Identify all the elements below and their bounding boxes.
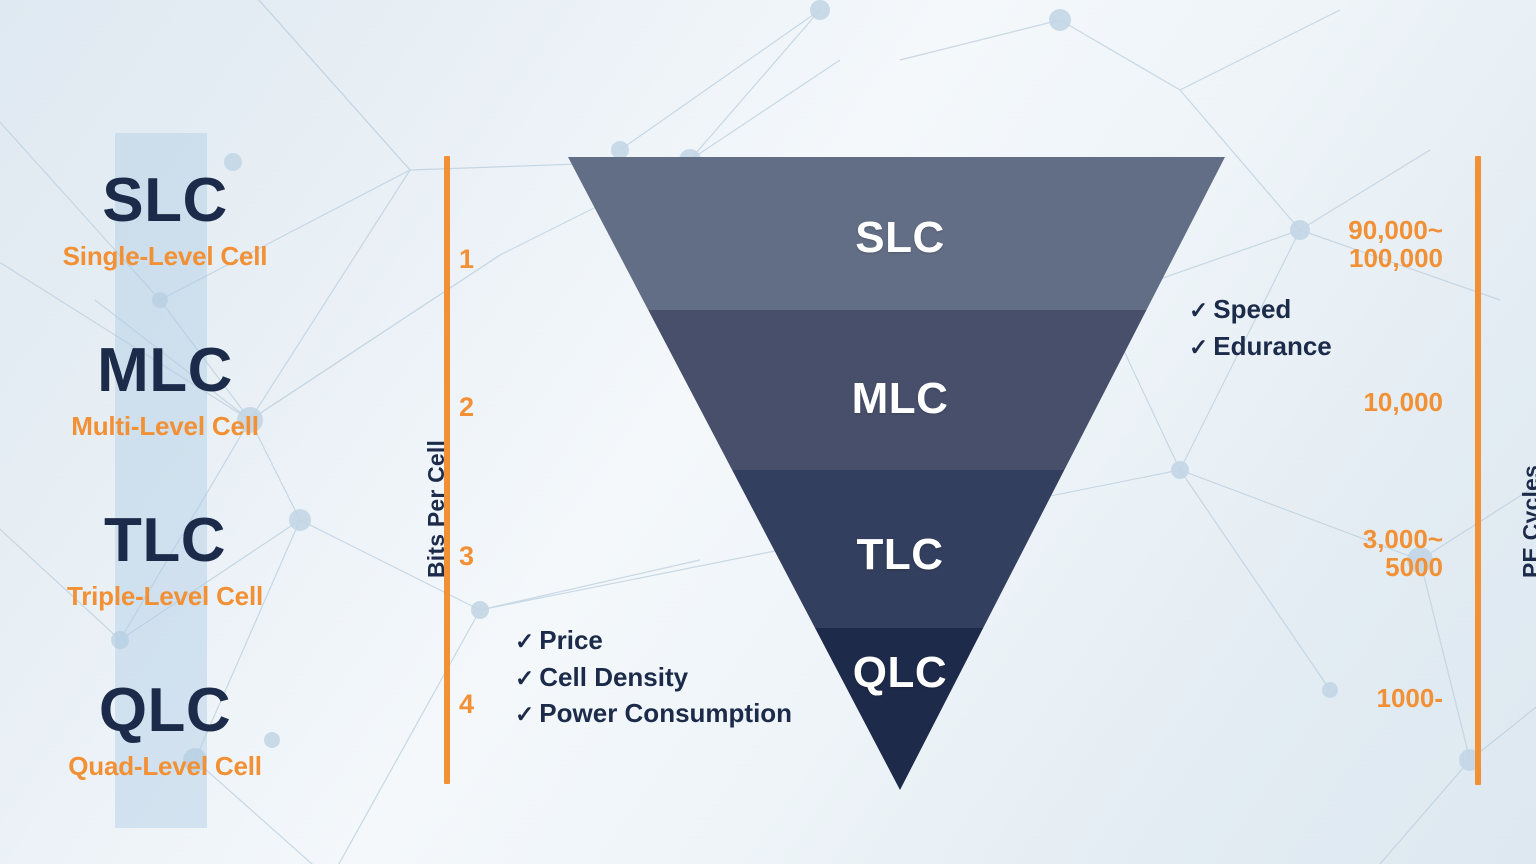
bits-per-cell-tick-3: 3 [459, 543, 474, 570]
cell-type-code-mlc: MLC [0, 340, 330, 402]
bits-per-cell-axis-title: Bits Per Cell [423, 440, 450, 578]
pe-cycles-axis-line [1475, 156, 1481, 785]
checklist-item-label: Price [539, 622, 603, 659]
cell-type-code-slc: SLC [0, 170, 330, 232]
checklist-item-cell-density: ✓ Cell Density [515, 659, 792, 696]
funnel-label-mlc: MLC [540, 377, 1260, 421]
bits-per-cell-tick-2: 2 [459, 394, 474, 421]
bits-per-cell-tick-4: 4 [459, 691, 474, 718]
funnel-label-slc: SLC [540, 216, 1260, 260]
checklist-item-label: Cell Density [539, 659, 688, 696]
check-icon: ✓ [515, 698, 534, 730]
bits-per-cell-tick-1: 1 [459, 246, 474, 273]
checklist-item-speed: ✓ Speed [1189, 291, 1332, 328]
cell-type-label-slc: SLC Single-Level Cell [0, 170, 330, 269]
infographic-canvas: SLC Single-Level Cell MLC Multi-Level Ce… [0, 0, 1536, 864]
checklist-item-label: Edurance [1213, 328, 1332, 365]
cell-type-full-slc: Single-Level Cell [0, 243, 330, 269]
checklist-item-price: ✓ Price [515, 622, 792, 659]
pe-cycles-value-slc-line1: 90,000~ [1348, 216, 1443, 244]
checklist-item-label: Power Consumption [539, 695, 792, 732]
checklist-item-label: Speed [1213, 291, 1291, 328]
cell-type-code-tlc: TLC [0, 510, 330, 572]
cell-type-code-qlc: QLC [0, 680, 330, 742]
cell-type-label-mlc: MLC Multi-Level Cell [0, 340, 330, 439]
pe-cycles-value-tlc: 3,000~ 5000 [1363, 525, 1443, 581]
pe-cycles-value-qlc: 1000- [1377, 684, 1444, 712]
pe-cycles-value-slc: 90,000~ 100,000 [1348, 216, 1443, 272]
check-icon: ✓ [515, 662, 534, 694]
pe-cycles-value-tlc-line2: 5000 [1363, 553, 1443, 581]
checklist-item-power-consumption: ✓ Power Consumption [515, 695, 792, 732]
cell-type-label-qlc: QLC Quad-Level Cell [0, 680, 330, 779]
pe-cycles-value-tlc-line1: 3,000~ [1363, 525, 1443, 553]
benefits-checklist-bottom: ✓ Price ✓ Cell Density ✓ Power Consumpti… [515, 622, 792, 732]
cell-type-label-tlc: TLC Triple-Level Cell [0, 510, 330, 609]
pe-cycles-axis-title: PE Cycles [1518, 465, 1536, 578]
pe-cycles-value-mlc-line1: 10,000 [1363, 388, 1443, 416]
cell-type-label-column: SLC Single-Level Cell MLC Multi-Level Ce… [0, 0, 330, 864]
pe-cycles-value-mlc: 10,000 [1363, 388, 1443, 416]
check-icon: ✓ [515, 625, 534, 657]
pe-cycles-value-slc-line2: 100,000 [1348, 244, 1443, 272]
checklist-item-edurance: ✓ Edurance [1189, 328, 1332, 365]
check-icon: ✓ [1189, 294, 1208, 326]
pe-cycles-value-qlc-line1: 1000- [1377, 684, 1444, 712]
check-icon: ✓ [1189, 331, 1208, 363]
cell-type-full-qlc: Quad-Level Cell [0, 753, 330, 779]
benefits-checklist-top: ✓ Speed ✓ Edurance [1189, 291, 1332, 364]
funnel-label-tlc: TLC [540, 533, 1260, 577]
cell-type-full-tlc: Triple-Level Cell [0, 583, 330, 609]
cell-type-full-mlc: Multi-Level Cell [0, 413, 330, 439]
